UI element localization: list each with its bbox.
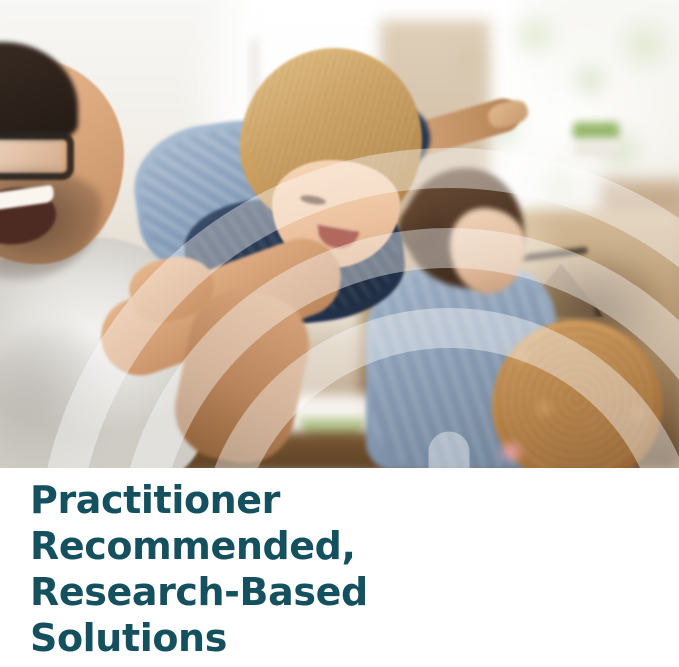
woman-hair-bun: [398, 206, 442, 250]
hero-photo: [0, 0, 679, 468]
page-title: Practitioner Recommended, Research-Based…: [30, 477, 368, 661]
headline-band: Practitioner Recommended, Research-Based…: [0, 468, 679, 667]
girl-pink-accent: [494, 440, 528, 464]
promo-banner: Practitioner Recommended, Research-Based…: [0, 0, 679, 667]
man-eyeglasses: [0, 132, 74, 180]
potted-plant: [573, 122, 619, 156]
